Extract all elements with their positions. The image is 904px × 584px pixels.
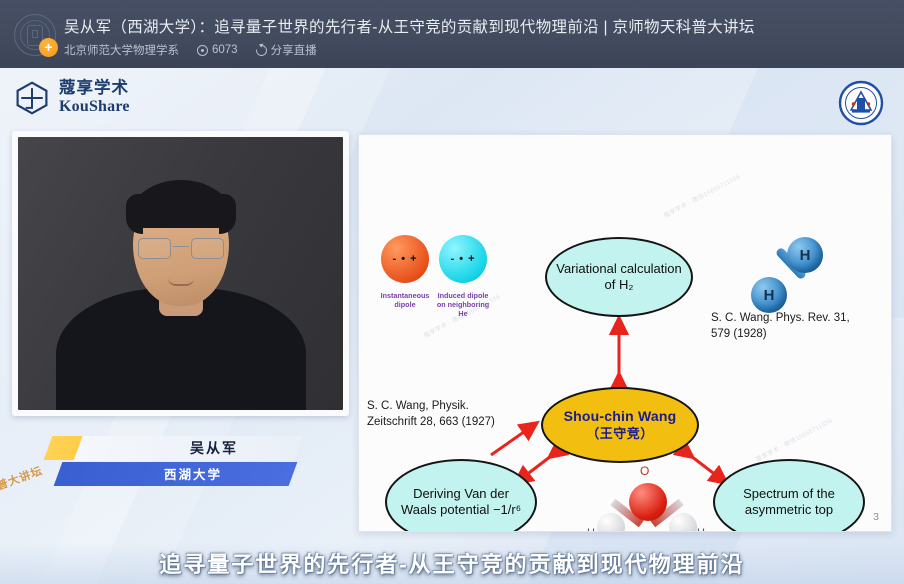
slide-page-number: 3 <box>873 511 879 523</box>
university-seal-icon[interactable]: + <box>14 14 56 56</box>
share-live-label: 分享直播 <box>271 42 317 58</box>
banner-title: 追寻量子世界的先行者-从王守竞的贡献到现代物理前沿 <box>159 547 744 579</box>
h2-atom-2: H <box>751 277 787 313</box>
dipole-illustration: - • + - • + Instantaneous dipole Induced… <box>381 235 501 355</box>
hydrogen-molecule-icon: H H <box>747 233 857 313</box>
cyan-dipole-sphere-icon: - • + <box>439 235 487 283</box>
dipole-label-left: Instantaneous dipole <box>377 291 433 309</box>
water-hydrogen-right <box>669 513 697 532</box>
water-hydrogen-label-right: H <box>697 527 705 532</box>
speaker-portrait <box>18 137 343 410</box>
header-meta: 北京师范大学物理学系 6073 分享直播 <box>64 42 317 58</box>
water-molecule-icon: O H H <box>595 465 699 532</box>
portrait-mouth <box>168 278 194 286</box>
slide-stage: 蔻享学术 KouShare <box>0 68 904 584</box>
page-title: 吴从军（西湖大学）：追寻量子世界的先行者-从王守竞的贡献到现代物理前沿 | 京师… <box>64 15 755 37</box>
portrait-glasses <box>136 238 226 260</box>
koushare-brand: 蔻享学术 KouShare <box>14 80 130 116</box>
page-header: + 吴从军（西湖大学）：追寻量子世界的先行者-从王守竞的贡献到现代物理前沿 | … <box>0 0 904 68</box>
portrait-hair <box>129 180 233 228</box>
citation-1927: S. C. Wang, Physik. Zeitschrift 28, 663 … <box>367 399 507 430</box>
h2-atom-1: H <box>787 237 823 273</box>
node-shou-chin-wang: Shou-chin Wang （王守竞） <box>541 387 699 463</box>
view-count-value: 6073 <box>212 44 238 56</box>
node-center-name-cn: （王守竞） <box>586 426 654 442</box>
plus-badge-icon[interactable]: + <box>39 38 58 57</box>
bnu-seal-icon <box>838 80 884 126</box>
node-center-name-en: Shou-chin Wang <box>564 408 677 425</box>
view-count: 6073 <box>197 44 238 56</box>
brand-name-cn: 蔻享学术 <box>59 80 130 98</box>
header-org[interactable]: 北京师范大学物理学系 <box>64 42 179 58</box>
share-live-icon <box>253 42 268 57</box>
node-variational-calculation: Variational calculation of H₂ <box>545 237 693 317</box>
brand-name-en: KouShare <box>59 98 130 115</box>
koushare-hexagon-arrow-icon <box>14 80 50 116</box>
slide-card: 蔻享学术 · 微信15655711556 蔻享学术 · 微信1565571155… <box>358 134 892 532</box>
speaker-nameplate: 吴从军 西湖大学 <box>48 436 308 488</box>
bottom-title-banner: 追寻量子世界的先行者-从王守竞的贡献到现代物理前沿 <box>0 542 904 584</box>
water-oxygen-label: O <box>640 464 649 478</box>
share-live-button[interactable]: 分享直播 <box>256 42 317 58</box>
orange-dipole-sphere-icon: - • + <box>381 235 429 283</box>
citation-1928: S. C. Wang. Phys. Rev. 31, 579 (1928) <box>711 311 861 342</box>
water-oxygen-atom <box>629 483 667 521</box>
stage-watermark: 科普大讲坛 <box>0 462 45 498</box>
water-hydrogen-label-left: H <box>587 527 595 532</box>
water-hydrogen-left <box>597 513 625 532</box>
dipole-label-right: Induced dipole on neighboring He <box>435 291 491 318</box>
video-player-page: + 吴从军（西湖大学）：追寻量子世界的先行者-从王守竞的贡献到现代物理前沿 | … <box>0 0 904 584</box>
speaker-portrait-frame <box>12 131 349 416</box>
eye-icon <box>197 45 208 56</box>
speaker-name: 吴从军 <box>144 438 284 458</box>
speaker-affiliation: 西湖大学 <box>118 464 268 483</box>
